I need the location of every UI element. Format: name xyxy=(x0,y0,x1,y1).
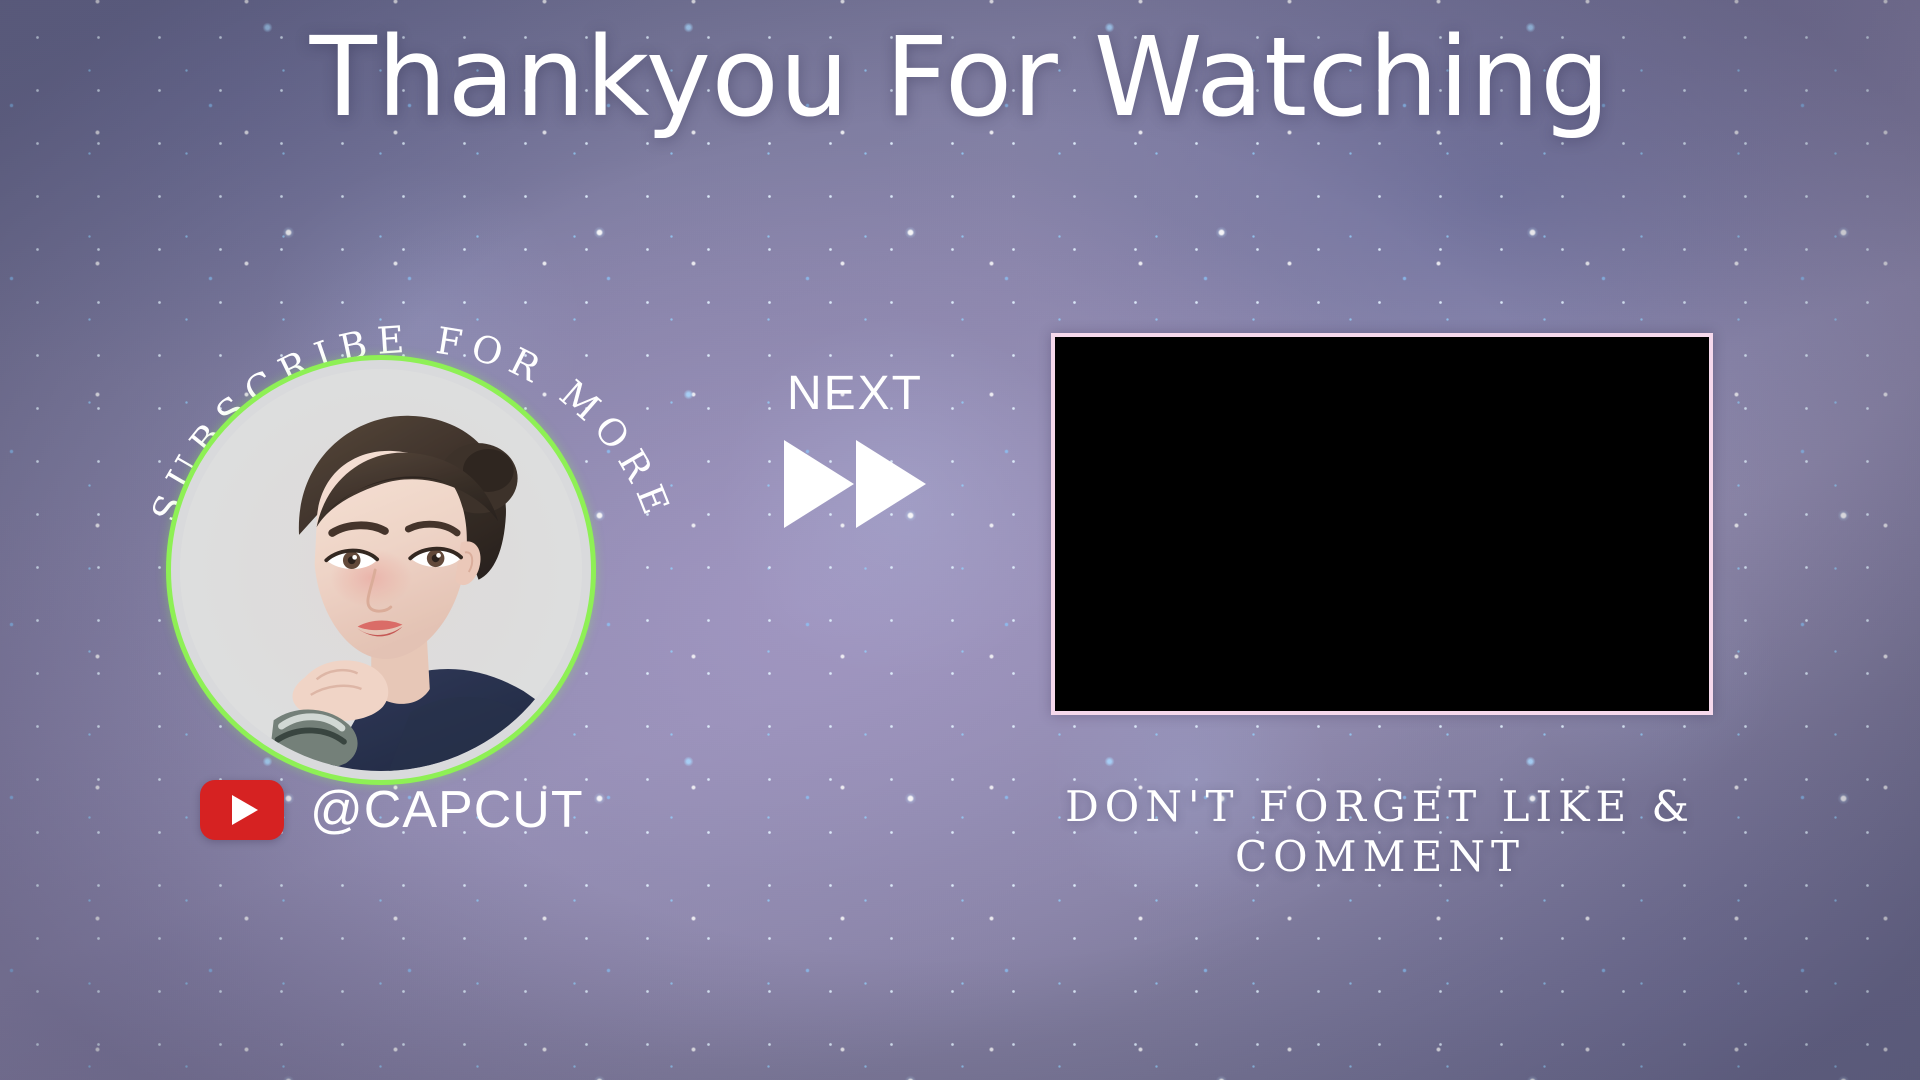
fast-forward-icon[interactable] xyxy=(765,440,945,528)
youtube-play-icon[interactable] xyxy=(200,780,284,840)
next-video-block[interactable]: NEXT xyxy=(765,370,945,528)
video-placeholder-screen[interactable] xyxy=(1055,337,1709,711)
outro-end-screen: Thankyou For Watching SUBSCRIBE FOR MORE xyxy=(0,0,1920,1080)
next-label: NEXT xyxy=(765,370,945,418)
caption-line-one: DON'T FORGET LIKE & xyxy=(1000,782,1760,832)
avatar[interactable] xyxy=(180,369,582,771)
next-video-thumbnail-frame[interactable] xyxy=(1051,333,1713,715)
caption-line-two: COMMENT xyxy=(1000,832,1760,882)
subscribe-block[interactable]: SUBSCRIBE FOR MORE xyxy=(140,300,730,770)
avatar-ring[interactable] xyxy=(166,355,596,785)
channel-handle-label: @CAPCUT xyxy=(310,780,584,840)
page-title: Thankyou For Watching xyxy=(0,16,1920,139)
fast-forward-triangle-two-icon xyxy=(856,440,926,528)
like-comment-caption: DON'T FORGET LIKE & COMMENT xyxy=(1000,782,1760,881)
play-triangle-icon xyxy=(232,795,258,825)
fast-forward-triangle-one-icon xyxy=(784,440,854,528)
channel-handle-row[interactable]: @CAPCUT xyxy=(200,780,584,840)
